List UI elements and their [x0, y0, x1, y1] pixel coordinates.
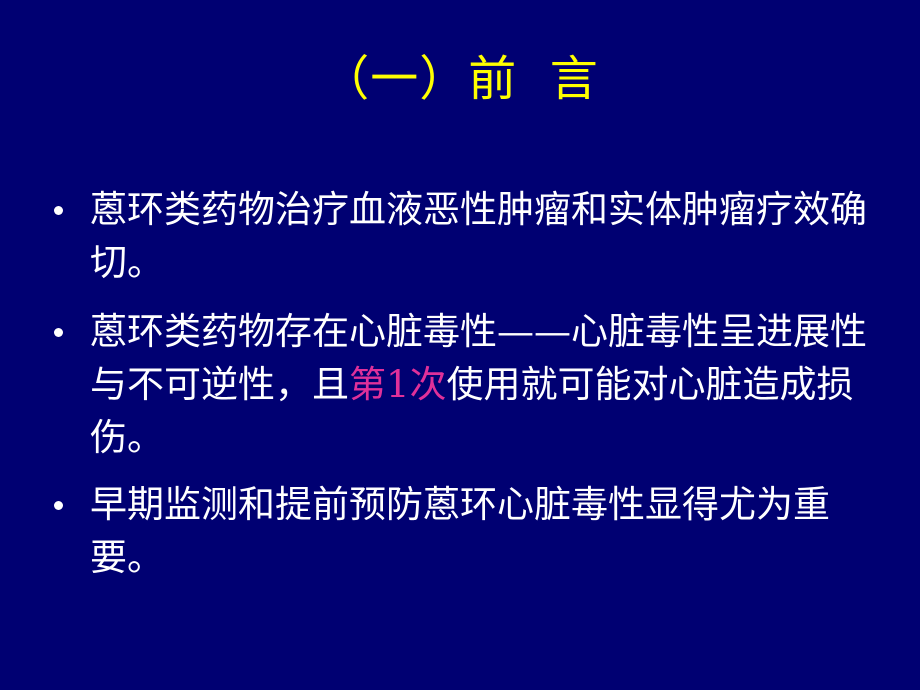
list-item-text: 蒽环类药物治疗血液恶性肿瘤和实体肿瘤疗效确切。	[90, 183, 898, 289]
list-item-text: 蒽环类药物存在心脏毒性——心脏毒性呈进展性与不可逆性，且第1次使用就可能对心脏造…	[90, 305, 898, 464]
list-item: 早期监测和提前预防蒽环心脏毒性显得尤为重要。	[46, 478, 898, 584]
highlighted-text: 第1次	[349, 363, 447, 406]
bullet-dot-icon	[54, 206, 63, 215]
presentation-slide: （一）前 言 蒽环类药物治疗血液恶性肿瘤和实体肿瘤疗效确切。 蒽环类药物存在心脏…	[0, 0, 920, 690]
list-item: 蒽环类药物存在心脏毒性——心脏毒性呈进展性与不可逆性，且第1次使用就可能对心脏造…	[46, 305, 898, 464]
bullet-dot-icon	[54, 328, 63, 337]
list-item: 蒽环类药物治疗血液恶性肿瘤和实体肿瘤疗效确切。	[46, 183, 898, 289]
bullet-dot-icon	[54, 501, 63, 510]
bullet-list: 蒽环类药物治疗血液恶性肿瘤和实体肿瘤疗效确切。 蒽环类药物存在心脏毒性——心脏毒…	[46, 183, 898, 589]
list-item-text: 早期监测和提前预防蒽环心脏毒性显得尤为重要。	[90, 478, 898, 584]
slide-title: （一）前 言	[0, 52, 920, 107]
